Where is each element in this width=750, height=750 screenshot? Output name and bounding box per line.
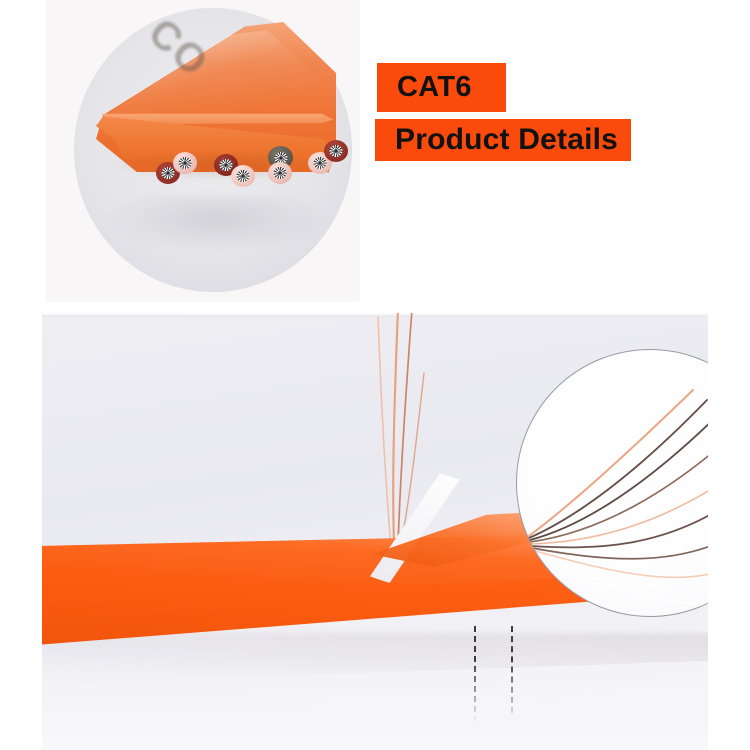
banner-cat6: CAT6 xyxy=(377,63,506,112)
conductor-6 xyxy=(268,162,292,184)
banner-product-details: Product Details xyxy=(375,119,631,161)
cable-cross-section-photo: CO xyxy=(46,0,360,302)
panel-bottom-fade xyxy=(42,660,708,750)
cable-ground-shadow xyxy=(104,196,330,252)
conductor-8 xyxy=(324,140,348,162)
conductor-2 xyxy=(173,152,197,174)
product-detail-page: CO CAT6 Product Details xyxy=(0,0,750,750)
conductor-4 xyxy=(231,165,255,187)
cable-construction-photo: PVC material; Waterproof/Sunscreen/ Anti… xyxy=(42,313,708,750)
